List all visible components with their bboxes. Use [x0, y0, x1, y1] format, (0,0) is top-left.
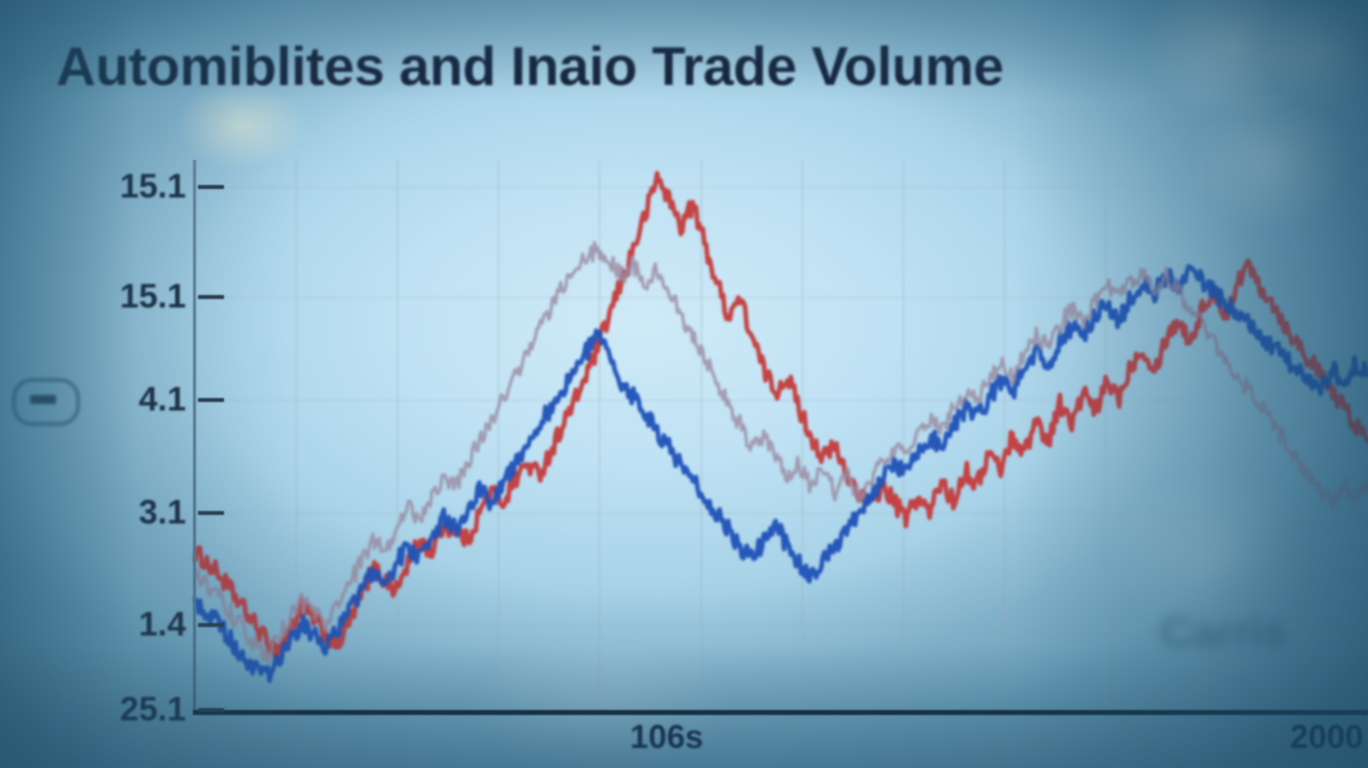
chart-screenshot: 15.115.14.13.11.425.1 106s2000 Automibli…: [0, 0, 1368, 768]
vignette-overlay: [0, 0, 1368, 768]
